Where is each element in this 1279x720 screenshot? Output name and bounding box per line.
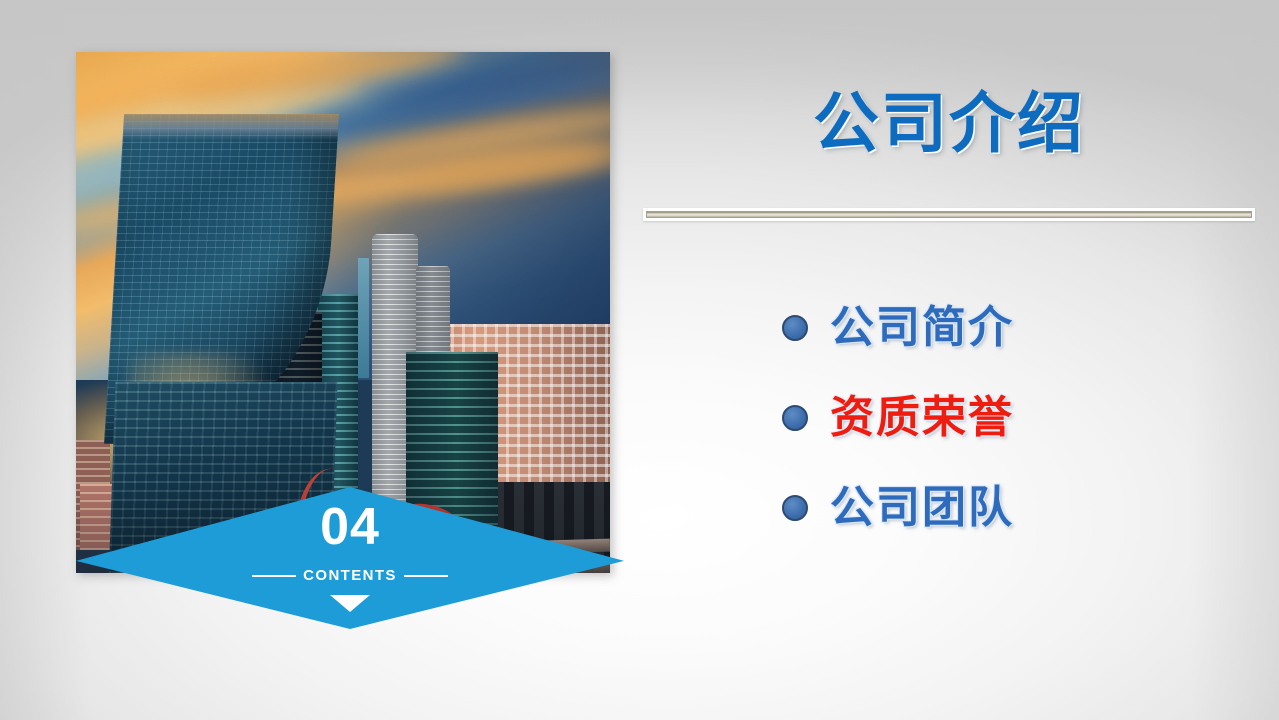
down-triangle-icon (330, 595, 370, 612)
presentation-slide: 04 CONTENTS 公司介绍 公司简介 资质荣誉 公司团队 (0, 0, 1279, 720)
bullet-dot-icon (782, 495, 808, 521)
list-item-label: 公司团队 (830, 486, 1014, 530)
spire-tower (358, 258, 369, 378)
bullet-dot-icon (782, 315, 808, 341)
section-number-badge: 04 CONTENTS (76, 487, 624, 629)
list-item-label: 公司简介 (830, 306, 1014, 350)
list-item-label: 资质荣誉 (830, 396, 1014, 440)
contents-label: CONTENTS (303, 567, 397, 584)
list-item[interactable]: 公司简介 (782, 283, 1252, 373)
agenda-list: 公司简介 资质荣誉 公司团队 (782, 283, 1252, 553)
title-divider-inner (646, 211, 1252, 218)
section-number: 04 (76, 501, 624, 553)
contents-rule-right (404, 575, 448, 577)
list-item[interactable]: 公司团队 (782, 463, 1252, 553)
bullet-dot-icon (782, 405, 808, 431)
list-item[interactable]: 资质荣誉 (782, 373, 1252, 463)
contents-rule-left (252, 575, 296, 577)
page-title: 公司介绍 (643, 84, 1255, 163)
contents-label-row: CONTENTS (76, 567, 624, 584)
title-divider (643, 208, 1255, 221)
